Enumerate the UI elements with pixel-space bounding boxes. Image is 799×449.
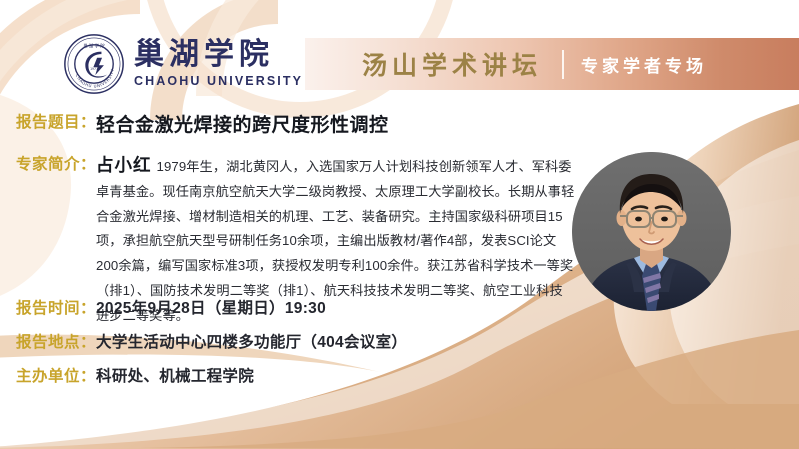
svg-text:巢 湖 学 院: 巢 湖 学 院	[83, 42, 105, 49]
svg-text:1977: 1977	[90, 67, 98, 71]
chaohu-university-seal-icon: 巢 湖 学 院 1977 CHAOHU UNIVERSITY	[63, 33, 125, 95]
bio-label: 专家简介：	[16, 152, 96, 174]
place-label: 报告地点：	[16, 330, 96, 352]
banner-title: 汤山学术讲坛	[362, 46, 542, 82]
title-value: 轻合金激光焊接的跨尺度形性调控	[96, 110, 389, 137]
university-logo-block: 巢 湖 学 院 1977 CHAOHU UNIVERSITY 巢湖学院 CHAO…	[63, 33, 303, 95]
time-value: 2025年9月28日（星期日）19:30	[96, 296, 326, 318]
speaker-name: 占小红	[96, 155, 152, 175]
lecture-poster: 巢 湖 学 院 1977 CHAOHU UNIVERSITY 巢湖学院 CHAO…	[0, 0, 799, 449]
time-row: 报告时间： 2025年9月28日（星期日）19:30	[16, 296, 326, 318]
university-name-en: CHAOHU UNIVERSITY	[134, 75, 303, 88]
banner-divider	[562, 50, 564, 79]
university-name-cn: 巢湖学院	[134, 40, 303, 70]
host-row: 主办单位： 科研处、机械工程学院	[16, 364, 254, 386]
host-label: 主办单位：	[16, 364, 96, 386]
series-banner: 汤山学术讲坛 专家学者专场	[305, 38, 799, 90]
title-label: 报告题目：	[16, 110, 96, 132]
place-value: 大学生活动中心四楼多功能厅（404会议室）	[96, 330, 407, 352]
time-label: 报告时间：	[16, 296, 96, 318]
speaker-portrait	[572, 152, 731, 311]
speaker-portrait-photo	[572, 152, 731, 311]
banner-subtitle: 专家学者专场	[581, 52, 707, 77]
host-value: 科研处、机械工程学院	[96, 364, 254, 386]
place-row: 报告地点： 大学生活动中心四楼多功能厅（404会议室）	[16, 330, 407, 352]
title-row: 报告题目： 轻合金激光焊接的跨尺度形性调控	[16, 110, 389, 137]
poster-header: 巢 湖 学 院 1977 CHAOHU UNIVERSITY 巢湖学院 CHAO…	[0, 0, 799, 100]
